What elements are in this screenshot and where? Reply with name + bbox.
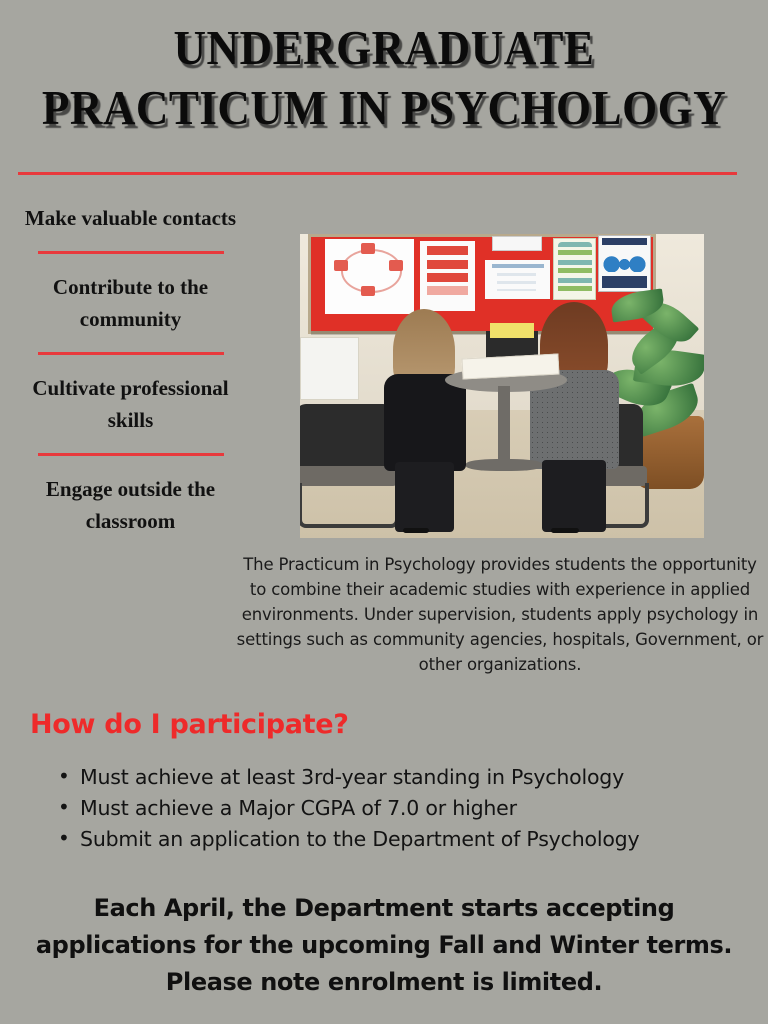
participant-poster-header [602,238,647,245]
benefits-sidebar: Make valuable contacts Contribute to the… [8,196,253,537]
practicum-photo [300,234,704,538]
participate-heading: How do I participate? [30,708,349,742]
student-shoe [403,528,429,534]
sidebar-divider-2 [38,352,224,355]
participant-poster-footer [602,276,647,288]
poster-node-4 [361,286,375,297]
pathway-graphic [558,242,592,296]
poster-node-2 [389,260,403,271]
sidebar-item-make-contacts: Make valuable contacts [8,202,253,234]
student-right [526,307,623,532]
participant-poster [598,235,651,292]
poster-text-lines [497,273,536,291]
student-legs [395,462,454,532]
application-notice-line-3: Please note enrolment is limited. [14,964,754,1001]
sidebar-item-engage-outside: Engage outside the classroom [8,473,253,537]
title-line-1: UNDERGRADUATE [31,18,738,78]
student-left [381,313,470,532]
list-item: Must achieve at least 3rd-year standing … [76,762,766,793]
participant-poster-graphic [603,253,646,273]
brochure-stand [300,337,359,400]
application-notice: Each April, the Department starts accept… [14,890,754,1001]
student-torso [384,374,466,470]
application-notice-line-1: Each April, the Department starts accept… [14,890,754,927]
sidebar-item-contribute-community: Contribute to the community [8,271,253,335]
red-bars-poster [420,241,475,311]
sidebar-item-cultivate-skills: Cultivate professional skills [8,372,253,436]
poster-node-1 [334,260,348,271]
poster-header-band [492,264,544,267]
sidebar-divider-1 [38,251,224,254]
poster-node-3 [361,243,375,254]
connect-with-us-poster [485,260,550,300]
page-title: UNDERGRADUATE PRACTICUM IN PSYCHOLOGY [0,18,768,138]
list-item: Submit an application to the Department … [76,824,766,855]
title-line-2: PRACTICUM IN PSYCHOLOGY [31,78,738,138]
board-notice-small [492,236,542,251]
requirements-list: Must achieve at least 3rd-year standing … [52,762,766,855]
poster-bar-1 [427,246,469,255]
poster-root: UNDERGRADUATE PRACTICUM IN PSYCHOLOGY Ma… [0,0,768,1024]
title-divider [18,172,737,175]
student-shoe [551,528,579,534]
student-legs [542,460,606,532]
open-book [461,353,559,379]
chair-back [300,404,393,470]
program-description: The Practicum in Psychology provides stu… [236,552,764,677]
green-pathway-poster [553,238,596,300]
application-notice-line-2: applications for the upcoming Fall and W… [14,927,754,964]
network-diagram-poster [325,239,414,314]
list-item: Must achieve a Major CGPA of 7.0 or high… [76,793,766,824]
table-base [466,459,543,471]
sidebar-divider-3 [38,453,224,456]
poster-bar-4 [427,286,469,295]
table-column [498,386,510,465]
poster-bar-3 [427,273,469,282]
poster-bar-2 [427,260,469,269]
